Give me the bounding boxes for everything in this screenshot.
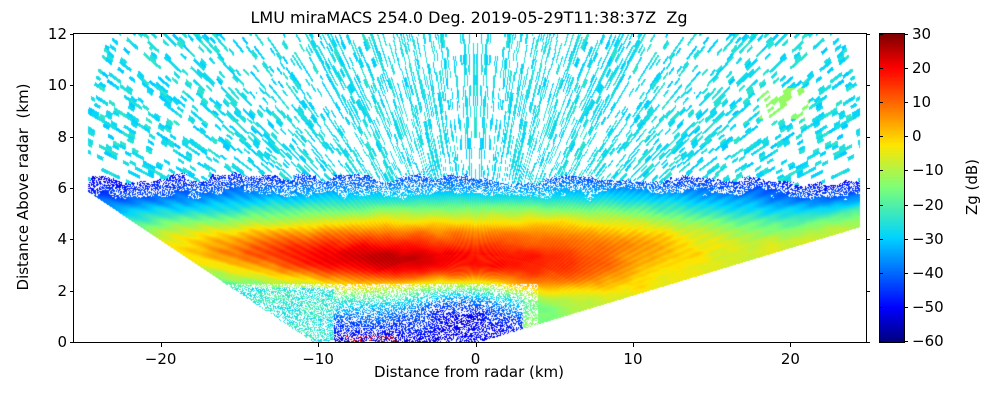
y-tick-right (866, 34, 870, 35)
x-tick-top (318, 33, 319, 37)
colorbar-label: Zg (dB) (963, 33, 983, 341)
y-tick (70, 239, 74, 240)
colorbar-tick-inner (879, 273, 883, 274)
colorbar-tick (904, 136, 908, 137)
colorbar-tick-inner (879, 307, 883, 308)
colorbar-tick-label: 0 (912, 127, 922, 145)
x-axis-label: Distance from radar (km) (73, 363, 865, 381)
rhi-heatmap-canvas (74, 34, 866, 342)
colorbar-tick-label: −10 (912, 161, 944, 179)
colorbar-tick-inner (879, 34, 883, 35)
x-tick (633, 343, 634, 347)
y-tick-right (866, 291, 870, 292)
colorbar-tick-label: −50 (912, 298, 944, 316)
colorbar-tick-label: 20 (912, 59, 931, 77)
y-tick-right (866, 85, 870, 86)
y-tick (70, 137, 74, 138)
y-tick (70, 342, 74, 343)
colorbar-tick (904, 307, 908, 308)
x-tick-top (161, 33, 162, 37)
colorbar-tick (904, 273, 908, 274)
y-tick (70, 188, 74, 189)
plot-axes: −20−1001020024681012 (73, 33, 867, 343)
colorbar-tick-label: −40 (912, 264, 944, 282)
y-tick-right (866, 188, 870, 189)
y-tick-right (866, 239, 870, 240)
colorbar-tick-inner (879, 136, 883, 137)
colorbar-tick (904, 205, 908, 206)
colorbar-tick-inner (879, 205, 883, 206)
y-tick (70, 34, 74, 35)
colorbar-tick-label: 30 (912, 25, 931, 43)
colorbar-tick (904, 102, 908, 103)
y-tick (70, 85, 74, 86)
colorbar-tick (904, 34, 908, 35)
colorbar-tick (904, 239, 908, 240)
x-tick-top (633, 33, 634, 37)
y-tick (70, 291, 74, 292)
x-tick (161, 343, 162, 347)
colorbar-tick-inner (879, 239, 883, 240)
colorbar-tick (904, 341, 908, 342)
y-tick-right (866, 342, 870, 343)
x-tick (476, 343, 477, 347)
x-tick (790, 343, 791, 347)
colorbar-tick-inner (879, 170, 883, 171)
y-axis-label: Distance Above radar (km) (14, 33, 36, 341)
page-title: LMU miraMACS 254.0 Deg. 2019-05-29T11:38… (73, 8, 865, 28)
colorbar-gradient (880, 34, 904, 342)
y-tick-right (866, 137, 870, 138)
x-tick-top (476, 33, 477, 37)
x-tick-top (790, 33, 791, 37)
colorbar-tick-inner (879, 341, 883, 342)
colorbar-tick-label: −30 (912, 230, 944, 248)
colorbar-axes: −60−50−40−30−20−100102030 (879, 33, 905, 343)
colorbar-tick-label: 10 (912, 93, 931, 111)
colorbar-tick (904, 170, 908, 171)
x-tick (318, 343, 319, 347)
colorbar-tick-inner (879, 102, 883, 103)
colorbar-tick (904, 68, 908, 69)
colorbar-tick-label: −20 (912, 196, 944, 214)
colorbar-tick-inner (879, 68, 883, 69)
colorbar-tick-label: −60 (912, 332, 944, 350)
radar-rhi-figure: LMU miraMACS 254.0 Deg. 2019-05-29T11:38… (0, 0, 1000, 400)
